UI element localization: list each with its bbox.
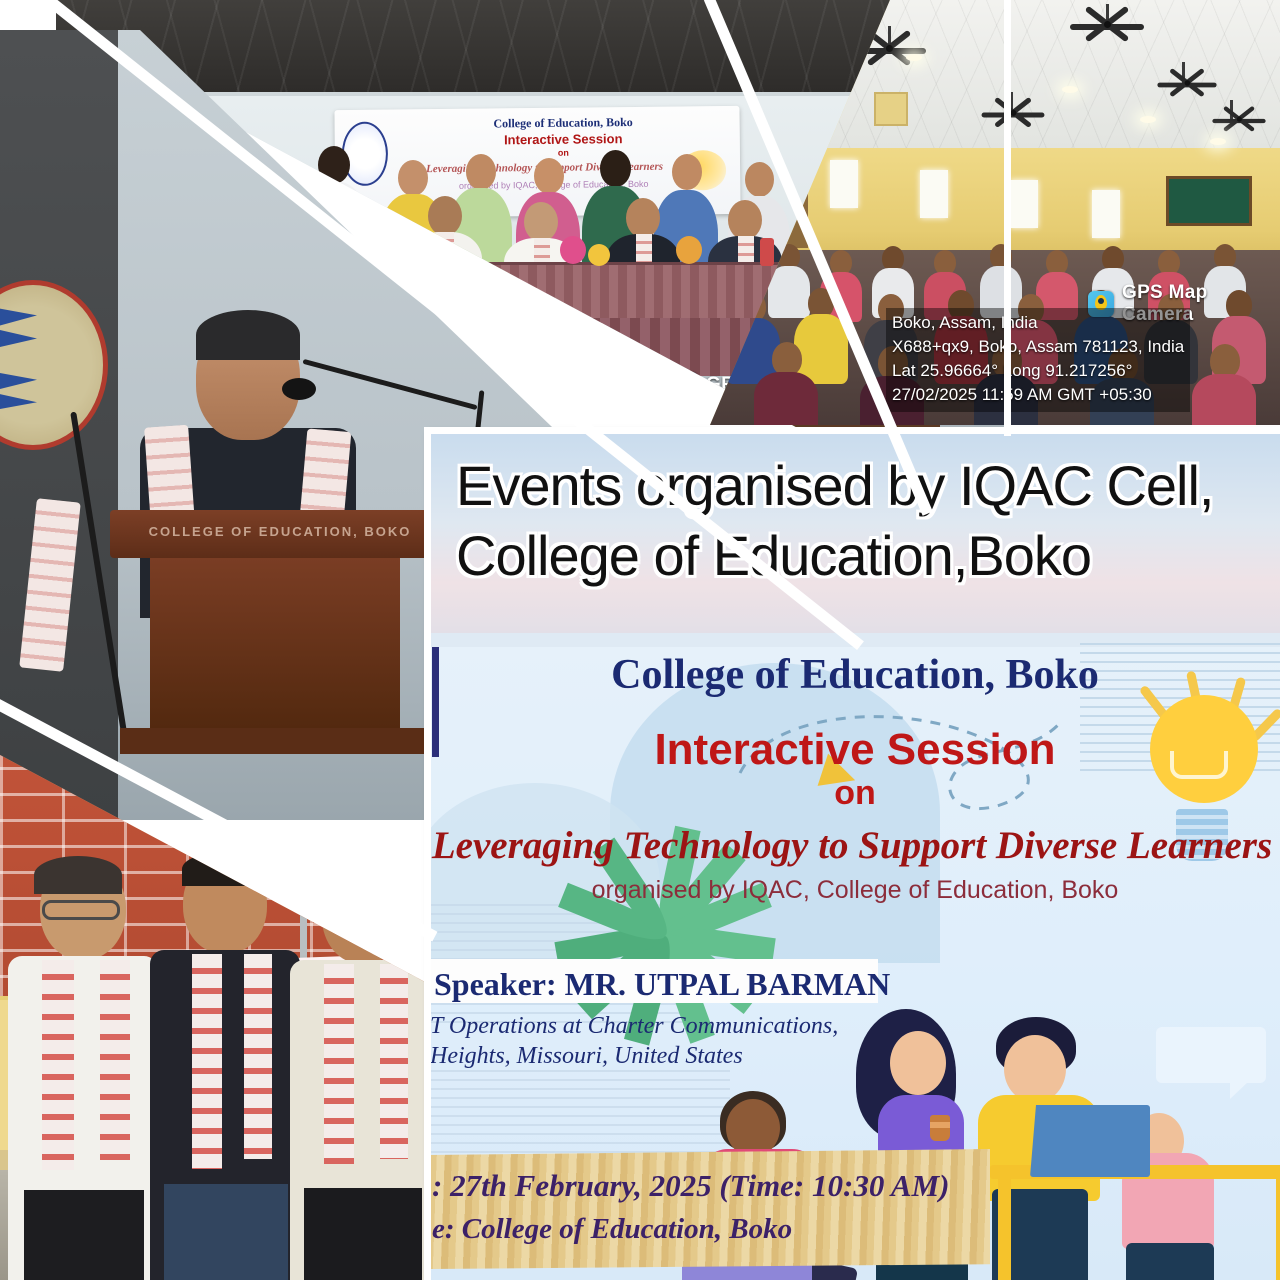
tube-light: [1140, 116, 1156, 123]
poster-topic: Leveraging Technology to Support Diverse…: [430, 823, 1280, 869]
microphone-head: [282, 378, 316, 400]
flower-bouquet: [560, 236, 586, 264]
coffee-cup-icon: [930, 1115, 950, 1141]
ceiling-fan-icon: [1212, 119, 1265, 123]
collage-title: Events organised by IQAC Cell, College o…: [456, 451, 1266, 591]
collage-title-line1: Events organised by IQAC Cell,: [456, 451, 1266, 521]
poster-speaker-role-1: T Operations at Charter Communications,: [430, 1011, 838, 1041]
person-left: [8, 860, 158, 1280]
podium: COLLEGE OF EDUCATION, BOKO: [110, 510, 450, 558]
podium-sign-text: COLLEGE OF EDUCATION, BOKO: [110, 524, 450, 539]
poster-title-band: Events organised by IQAC Cell, College o…: [430, 433, 1280, 633]
photo-collage: College of Education, Boko Interactive S…: [0, 0, 1280, 1280]
flower-bouquet: [588, 244, 610, 266]
poster-content: College of Education, Boko Interactive S…: [430, 633, 1280, 1280]
poster-heading: Interactive Session: [430, 725, 1280, 775]
flower-bouquet: [676, 236, 702, 264]
poster-line-texture: [430, 1063, 730, 1153]
ventilator: [874, 92, 908, 126]
poster-accent-bar: [432, 647, 439, 757]
speaker-hair: [196, 310, 300, 360]
water-bottle: [412, 240, 426, 266]
poster-date: : 27th February, 2025 (Time: 10:30 AM): [432, 1167, 950, 1205]
podium-body: [150, 558, 400, 728]
tube-light: [1210, 138, 1226, 145]
collage-seam: [424, 427, 1280, 434]
collage-seam: [424, 427, 431, 1280]
podium-base: [120, 728, 430, 754]
event-poster: Events organised by IQAC Cell, College o…: [430, 433, 1280, 1280]
poster-speaker-role-2: Heights, Missouri, United States: [430, 1041, 743, 1071]
ceiling-fan-icon: [1070, 24, 1144, 30]
gps-map-camera-icon: [672, 372, 698, 398]
speech-bubble: [1156, 1027, 1266, 1083]
collage-seam: [1004, 0, 1011, 436]
poster-organised-by: organised by IQAC, College of Education,…: [430, 875, 1280, 905]
gps-coords: Lat 25.96664° Long 91.217256°: [892, 359, 1184, 383]
ceiling-fan-icon: [1157, 83, 1216, 88]
ceiling-fan-icon: [982, 112, 1045, 117]
person-center: [150, 850, 300, 1280]
laptop-icon: [1030, 1105, 1150, 1177]
window: [1010, 180, 1038, 228]
water-bottle: [760, 238, 774, 266]
poster-speaker: Speaker: MR. UTPAL BARMAN: [434, 965, 874, 1003]
gps-timestamp: 27/02/2025 11:59 AM GMT +05:30: [892, 383, 1184, 407]
collage-title-line2: College of Education,Boko: [456, 521, 1266, 591]
gps-place: Boko, Assam, India: [892, 311, 1184, 335]
green-board: [1166, 176, 1252, 226]
tube-light: [1062, 86, 1078, 93]
gps-address: X688+qx9, Boko, Assam 781123, India: [892, 335, 1184, 359]
window: [1092, 190, 1120, 238]
desk-leg: [1276, 1177, 1280, 1280]
window: [920, 170, 948, 218]
poster-org-name: College of Education, Boko: [430, 651, 1280, 699]
tube-light: [906, 54, 922, 61]
window: [830, 160, 858, 208]
poster-venue: e: College of Education, Boko: [432, 1211, 792, 1247]
desk-leg: [998, 1177, 1011, 1280]
poster-heading-on: on: [430, 773, 1280, 813]
banner-org: College of Education, Boko: [395, 114, 732, 132]
gps-details-audience: Boko, Assam, India X688+qx9, Boko, Assam…: [886, 308, 1190, 412]
